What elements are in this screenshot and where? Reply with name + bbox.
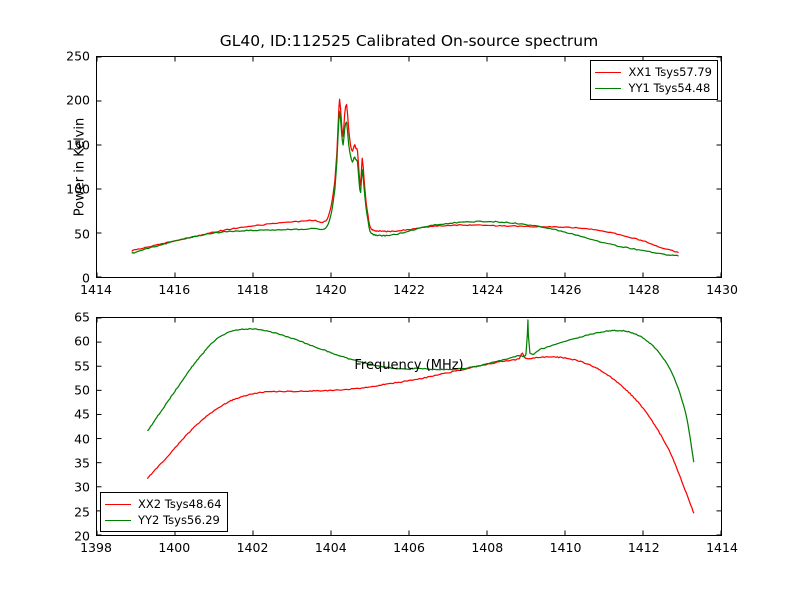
y-tick-label: 250: [44, 49, 90, 64]
x-tick-label: 1420: [315, 282, 347, 297]
legend-label-xx2: XX2 Tsys48.64: [138, 497, 222, 511]
y-tick-label: 30: [44, 480, 90, 495]
x-tick-label: 1406: [393, 540, 425, 555]
y-tick-label: 200: [44, 93, 90, 108]
y-tick-label: 60: [44, 334, 90, 349]
legend-line-swatch-yy1: [595, 88, 621, 89]
figure-canvas: GL40, ID:112525 Calibrated On-source spe…: [0, 0, 800, 600]
y-tick-label: 45: [44, 407, 90, 422]
x-tick-label: 1422: [393, 282, 425, 297]
x-tick-label: 1400: [158, 540, 190, 555]
y-tick-label: 0: [44, 271, 90, 286]
x-tick-label: 1428: [628, 282, 660, 297]
x-tick-label: 1430: [706, 282, 738, 297]
x-tick-label: 1414: [706, 540, 738, 555]
bottom-panel-legend: XX2 Tsys48.64 YY2 Tsys56.29: [100, 492, 228, 532]
figure-title: GL40, ID:112525 Calibrated On-source spe…: [96, 32, 722, 50]
legend-label-xx1: XX1 Tsys57.79: [628, 65, 712, 79]
y-tick-label: 35: [44, 456, 90, 471]
bottom-panel-axes: Frequency (MHz) XX2 Tsys48.64 YY2 Tsys56…: [96, 317, 722, 536]
legend-line-swatch-yy2: [105, 520, 131, 521]
top-panel-ylabel: Power in Kelvin: [73, 118, 88, 216]
x-tick-label: 1416: [158, 282, 190, 297]
legend-item: YY1 Tsys54.48: [595, 80, 712, 96]
y-tick-label: 100: [44, 182, 90, 197]
x-tick-label: 1408: [471, 540, 503, 555]
legend-label-yy2: YY2 Tsys56.29: [138, 513, 220, 527]
x-tick-label: 1404: [315, 540, 347, 555]
y-tick-label: 25: [44, 504, 90, 519]
x-tick-label: 1402: [237, 540, 269, 555]
legend-item: YY2 Tsys56.29: [105, 512, 222, 528]
legend-item: XX2 Tsys48.64: [105, 496, 222, 512]
legend-item: XX1 Tsys57.79: [595, 64, 712, 80]
y-tick-label: 50: [44, 226, 90, 241]
y-tick-label: 65: [44, 310, 90, 325]
legend-line-swatch-xx1: [595, 72, 621, 73]
x-tick-label: 1410: [550, 540, 582, 555]
y-tick-label: 40: [44, 431, 90, 446]
y-tick-label: 50: [44, 383, 90, 398]
x-tick-label: 1426: [550, 282, 582, 297]
y-tick-label: 20: [44, 529, 90, 544]
x-tick-label: 1424: [471, 282, 503, 297]
x-tick-label: 1412: [628, 540, 660, 555]
y-tick-label: 55: [44, 358, 90, 373]
bottom-panel-xlabel: Frequency (MHz): [97, 358, 721, 373]
top-panel-axes: Power in Kelvin XX1 Tsys57.79 YY1 Tsys54…: [96, 56, 722, 278]
top-panel-legend: XX1 Tsys57.79 YY1 Tsys54.48: [590, 60, 718, 100]
x-tick-label: 1418: [237, 282, 269, 297]
y-tick-label: 150: [44, 137, 90, 152]
legend-line-swatch-xx2: [105, 504, 131, 505]
legend-label-yy1: YY1 Tsys54.48: [628, 81, 710, 95]
